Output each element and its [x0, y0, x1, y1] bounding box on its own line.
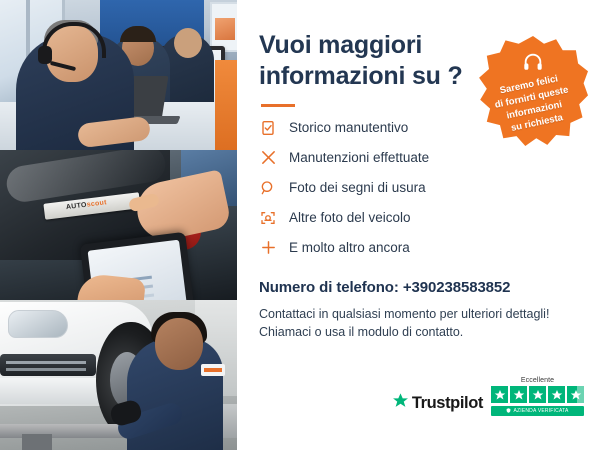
rating-star-2: [510, 386, 527, 403]
trustpilot-logo: Trustpilot: [392, 392, 483, 416]
verified-badge: AZIENDA VERIFICATA: [491, 406, 584, 416]
photo-vehicle-inspection-with-tablet: AUTOscout: [0, 150, 237, 300]
feature-label: Foto dei segni di usura: [289, 180, 426, 195]
trustpilot-rating: Eccellente AZIENDA VERIFICATA: [491, 377, 584, 416]
page-title: Vuoi maggiori informazioni su ?: [259, 30, 469, 91]
heading-line-1: Vuoi maggiori: [259, 31, 422, 59]
promo-banner: AUTOscout Vuoi maggiori informazioni su …: [0, 0, 600, 450]
contact-line-1: Contattaci in qualsiasi momento per ulte…: [259, 305, 578, 323]
tools-cross-icon: [259, 149, 277, 167]
photo-mechanic-working-on-white-car-wheel: [0, 300, 237, 450]
feature-label: Altre foto del veicolo: [289, 210, 411, 225]
contact-line-2: Chiamaci o usa il modulo di contatto.: [259, 323, 578, 341]
photo-call-center-agents-with-headsets: [0, 0, 237, 150]
feature-label: Manutenzioni effettuate: [289, 150, 429, 165]
feature-item-molto-altro-ancora: E molto altro ancora: [259, 238, 578, 257]
contact-text: Contattaci in qualsiasi momento per ulte…: [259, 305, 578, 341]
title-divider: [261, 104, 295, 107]
rating-star-1: [491, 386, 508, 403]
feature-item-manutenzioni-effettuate: Manutenzioni effettuate: [259, 148, 578, 167]
rating-star-4: [548, 386, 565, 403]
callout-badge: Saremo felici di fornirti queste informa…: [478, 36, 588, 146]
trustpilot-widget[interactable]: Trustpilot Eccellente AZIENDA VERIFICATA: [392, 377, 584, 416]
feature-label: Storico manutentivo: [289, 120, 408, 135]
phone-number[interactable]: +390238583852: [403, 279, 511, 296]
feature-label: E molto altro ancora: [289, 240, 410, 255]
trustpilot-star-icon: [392, 392, 409, 414]
clipboard-check-icon: [259, 119, 277, 137]
feature-item-altre-foto-veicolo: Altre foto del veicolo: [259, 208, 578, 227]
trustpilot-star-rating: [491, 386, 584, 403]
trustpilot-brand-name: Trustpilot: [412, 394, 483, 413]
verified-label: AZIENDA VERIFICATA: [513, 408, 568, 414]
trustpilot-rating-label: Eccellente: [521, 377, 554, 384]
rating-star-5: [567, 386, 584, 403]
headset-icon: [521, 51, 545, 78]
rating-star-3: [529, 386, 546, 403]
heading-line-2: informazioni su ?: [259, 62, 463, 90]
magnifier-icon: [259, 179, 277, 197]
phone-line: Numero di telefono: +390238583852: [259, 279, 578, 296]
plus-icon: [259, 239, 277, 257]
phone-label: Numero di telefono:: [259, 279, 399, 296]
photo-column: AUTOscout: [0, 0, 237, 450]
shield-check-icon: [506, 408, 511, 415]
photo-frame-icon: [259, 209, 277, 227]
feature-item-foto-segni-usura: Foto dei segni di usura: [259, 178, 578, 197]
content-panel: Vuoi maggiori informazioni su ? Storico …: [237, 0, 600, 450]
